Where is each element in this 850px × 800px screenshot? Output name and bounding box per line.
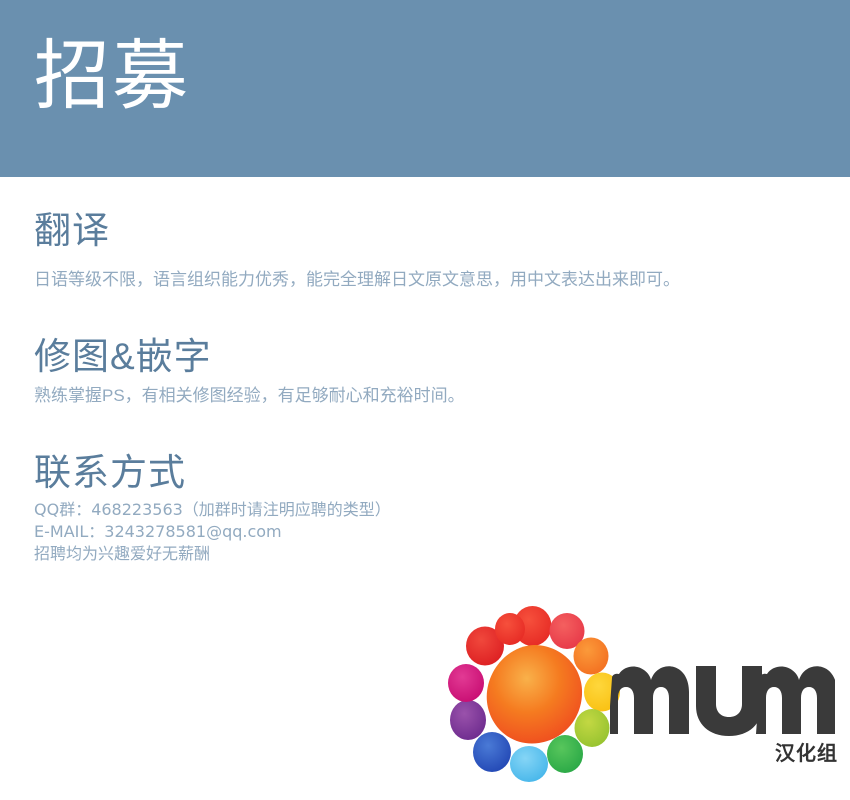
petal-magenta [448,664,484,702]
mum-wordmark-icon [610,660,835,740]
petal-yellow-green [575,709,610,747]
petal-orange [574,638,609,675]
logo-flower-icon [440,604,625,789]
section-contact-heading: 联系方式 [34,451,816,495]
logo-subtitle: 汉化组 [775,742,838,764]
logo: 汉化组 [440,604,840,794]
main-content: 翻译 日语等级不限，语言组织能力优秀，能完全理解日文原文意思，用中文表达出来即可… [0,177,850,565]
section-translate-heading: 翻译 [34,209,816,253]
contact-line-qq: QQ群：468223563（加群时请注明应聘的类型） [34,499,816,521]
section-retouch: 修图&嵌字 熟练掌握PS，有相关修图经验，有足够耐心和充裕时间。 [34,293,816,409]
petal-cyan [510,746,548,782]
section-translate: 翻译 日语等级不限，语言组织能力优秀，能完全理解日文原文意思，用中文表达出来即可… [34,177,816,293]
petal-red-top-left [495,613,525,645]
section-retouch-body: 熟练掌握PS，有相关修图经验，有足够耐心和充裕时间。 [34,383,816,409]
contact-lines: QQ群：468223563（加群时请注明应聘的类型） E-MAIL：324327… [34,499,816,565]
contact-line-email: E-MAIL：3243278581@qq.com [34,521,816,543]
petal-blue [473,732,511,772]
section-translate-body: 日语等级不限，语言组织能力优秀，能完全理解日文原文意思，用中文表达出来即可。 [34,267,816,293]
center-blob [487,645,582,744]
section-retouch-heading: 修图&嵌字 [34,335,816,379]
contact-line-note: 招聘均为兴趣爱好无薪酬 [34,543,816,565]
header-banner: 招募 [0,0,850,177]
page-title: 招募 [34,34,190,120]
section-contact: 联系方式 QQ群：468223563（加群时请注明应聘的类型） E-MAIL：3… [34,409,816,565]
petal-purple [450,700,486,740]
petal-green [547,735,583,773]
logo-text-group: 汉化组 [610,660,840,780]
